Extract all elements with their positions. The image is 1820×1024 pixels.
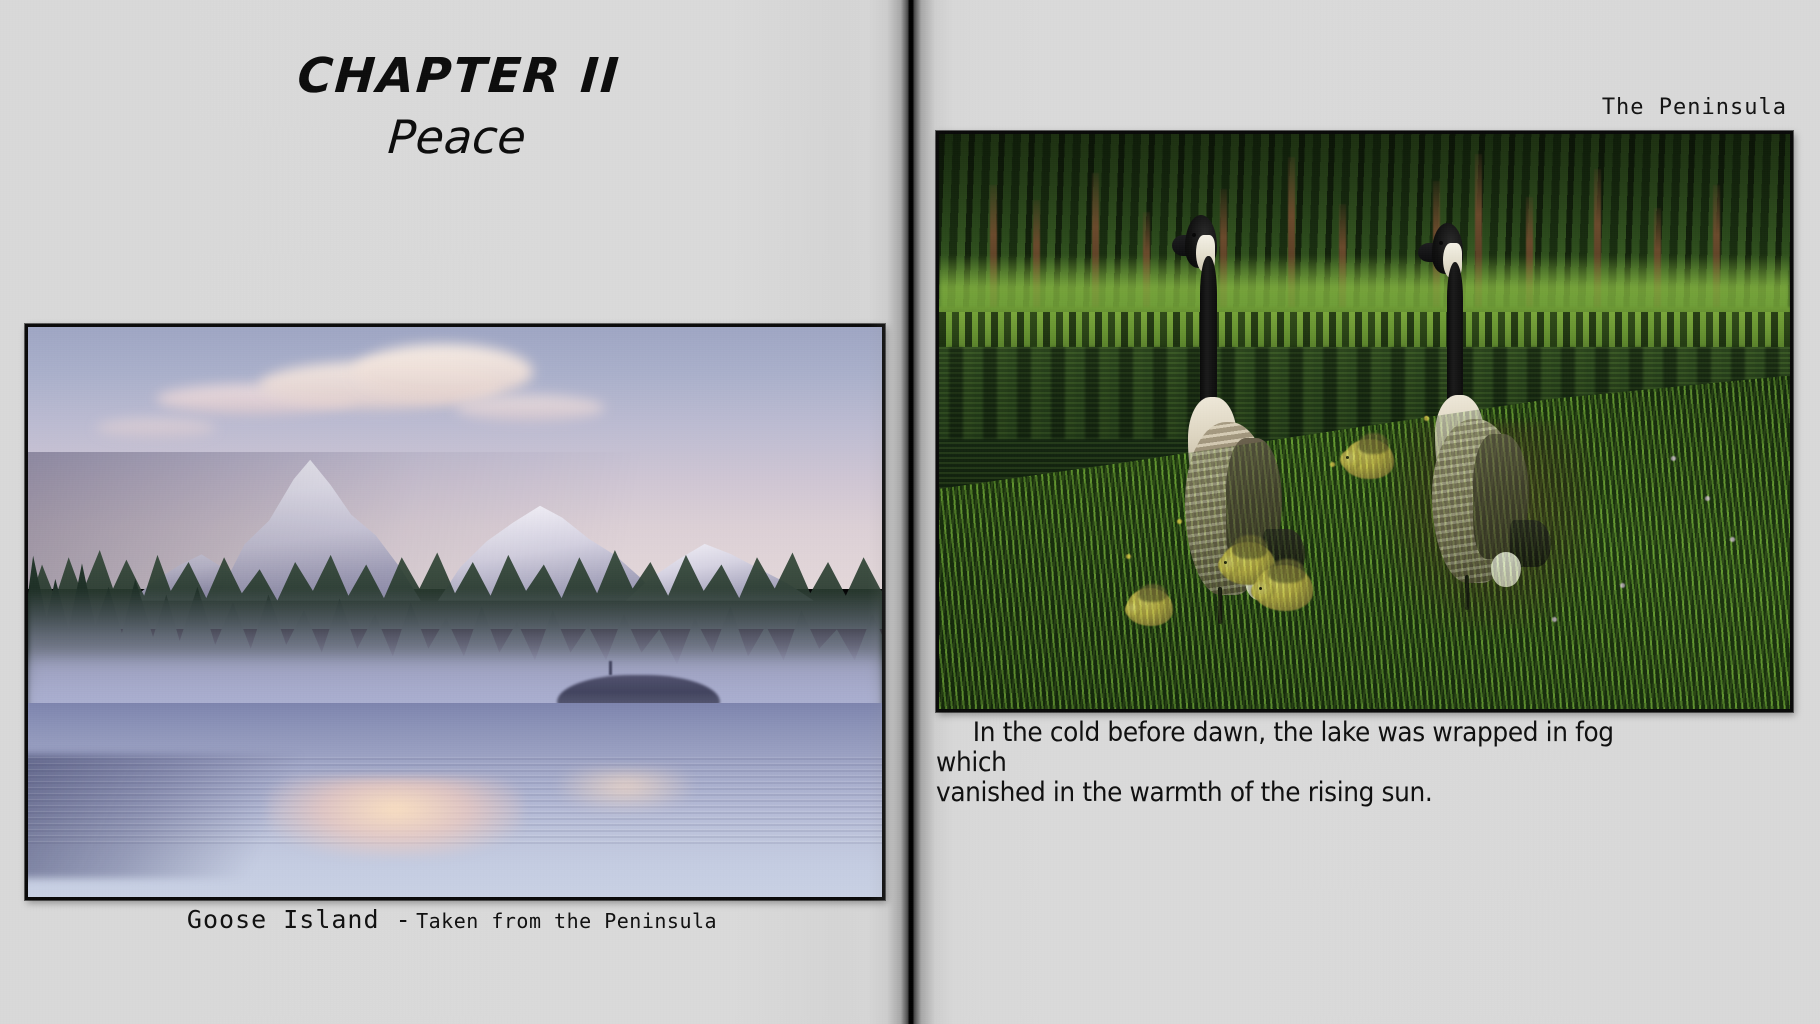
sunrise-reflection bbox=[557, 769, 694, 812]
left-photo-caption: Goose Island - Taken from the Peninsula bbox=[25, 905, 879, 934]
goose-eye bbox=[1439, 241, 1443, 245]
photo-canada-geese bbox=[936, 131, 1793, 712]
tree-row-back bbox=[28, 509, 882, 629]
pine-treeline bbox=[28, 521, 882, 715]
sunrise-reflection bbox=[267, 777, 523, 858]
cloud bbox=[353, 344, 533, 400]
right-page: The Peninsula bbox=[908, 0, 1820, 1024]
right-page-body-text: In the cold before dawn, the lake was wr… bbox=[936, 718, 1635, 809]
photo-book-spread: CHAPTER II Peace bbox=[0, 0, 1820, 1024]
body-text-line-1: In the cold before dawn, the lake was wr… bbox=[936, 717, 1614, 778]
island-snag bbox=[609, 661, 612, 675]
chapter-heading-block: CHAPTER II Peace bbox=[0, 52, 908, 160]
caption-title: Goose Island - bbox=[187, 905, 412, 934]
far-bank-reeds bbox=[939, 312, 1790, 347]
geese-scene bbox=[939, 134, 1790, 709]
chapter-subtitle: Peace bbox=[0, 114, 910, 160]
left-page: CHAPTER II Peace bbox=[0, 0, 908, 1024]
caption-subtitle: Taken from the Peninsula bbox=[416, 909, 717, 933]
lake-scene bbox=[28, 327, 882, 897]
lake-water bbox=[28, 703, 882, 897]
chapter-title: CHAPTER II bbox=[0, 52, 910, 100]
photo-misty-lake bbox=[25, 324, 885, 900]
page-header-label: The Peninsula bbox=[1602, 95, 1787, 120]
body-text-line-2: vanished in the warmth of the rising sun… bbox=[936, 777, 1432, 808]
